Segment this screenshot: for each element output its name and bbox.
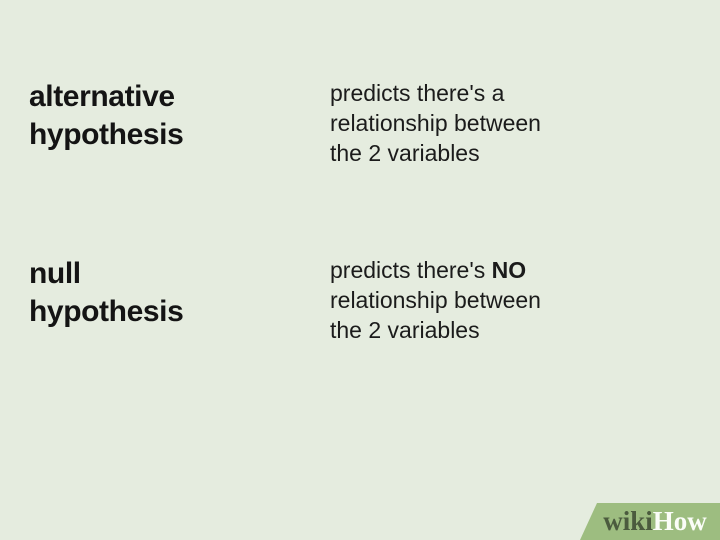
description-line-1: predicts there's NO (330, 255, 690, 285)
term-cell-null-hypothesis: null hypothesis (0, 255, 330, 331)
description-line-1: predicts there's a (330, 78, 690, 108)
definition-row-alternative-hypothesis: alternative hypothesis predicts there's … (0, 78, 720, 168)
term-label-null-hypothesis: null hypothesis (29, 255, 330, 331)
description-cell-alternative-hypothesis: predicts there's a relationship between … (330, 78, 720, 168)
term-cell-alternative-hypothesis: alternative hypothesis (0, 78, 330, 154)
wikihow-logo-how: How (653, 506, 707, 536)
description-line-3: the 2 variables (330, 138, 690, 168)
description-line-3: the 2 variables (330, 315, 690, 345)
description-text-alternative-hypothesis: predicts there's a relationship between … (330, 78, 690, 168)
description-line-2: relationship between (330, 285, 690, 315)
definition-row-null-hypothesis: null hypothesis predicts there's NO rela… (0, 255, 720, 345)
term-line-2: hypothesis (29, 116, 330, 154)
infographic-canvas: alternative hypothesis predicts there's … (0, 0, 720, 540)
description-line-1-prefix: predicts there's (330, 257, 492, 283)
term-line-2: hypothesis (29, 293, 330, 331)
term-line-1: null (29, 255, 330, 293)
description-line-1-prefix: predicts there's a (330, 80, 504, 106)
description-line-2: relationship between (330, 108, 690, 138)
description-emphasis-no: NO (492, 257, 527, 283)
description-text-null-hypothesis: predicts there's NO relationship between… (330, 255, 690, 345)
description-cell-null-hypothesis: predicts there's NO relationship between… (330, 255, 720, 345)
term-line-1: alternative (29, 78, 330, 116)
wikihow-watermark: wikiHow (580, 503, 720, 540)
wikihow-logo-wiki: wiki (603, 506, 653, 536)
wikihow-logo-text: wikiHow (603, 508, 707, 535)
term-label-alternative-hypothesis: alternative hypothesis (29, 78, 330, 154)
